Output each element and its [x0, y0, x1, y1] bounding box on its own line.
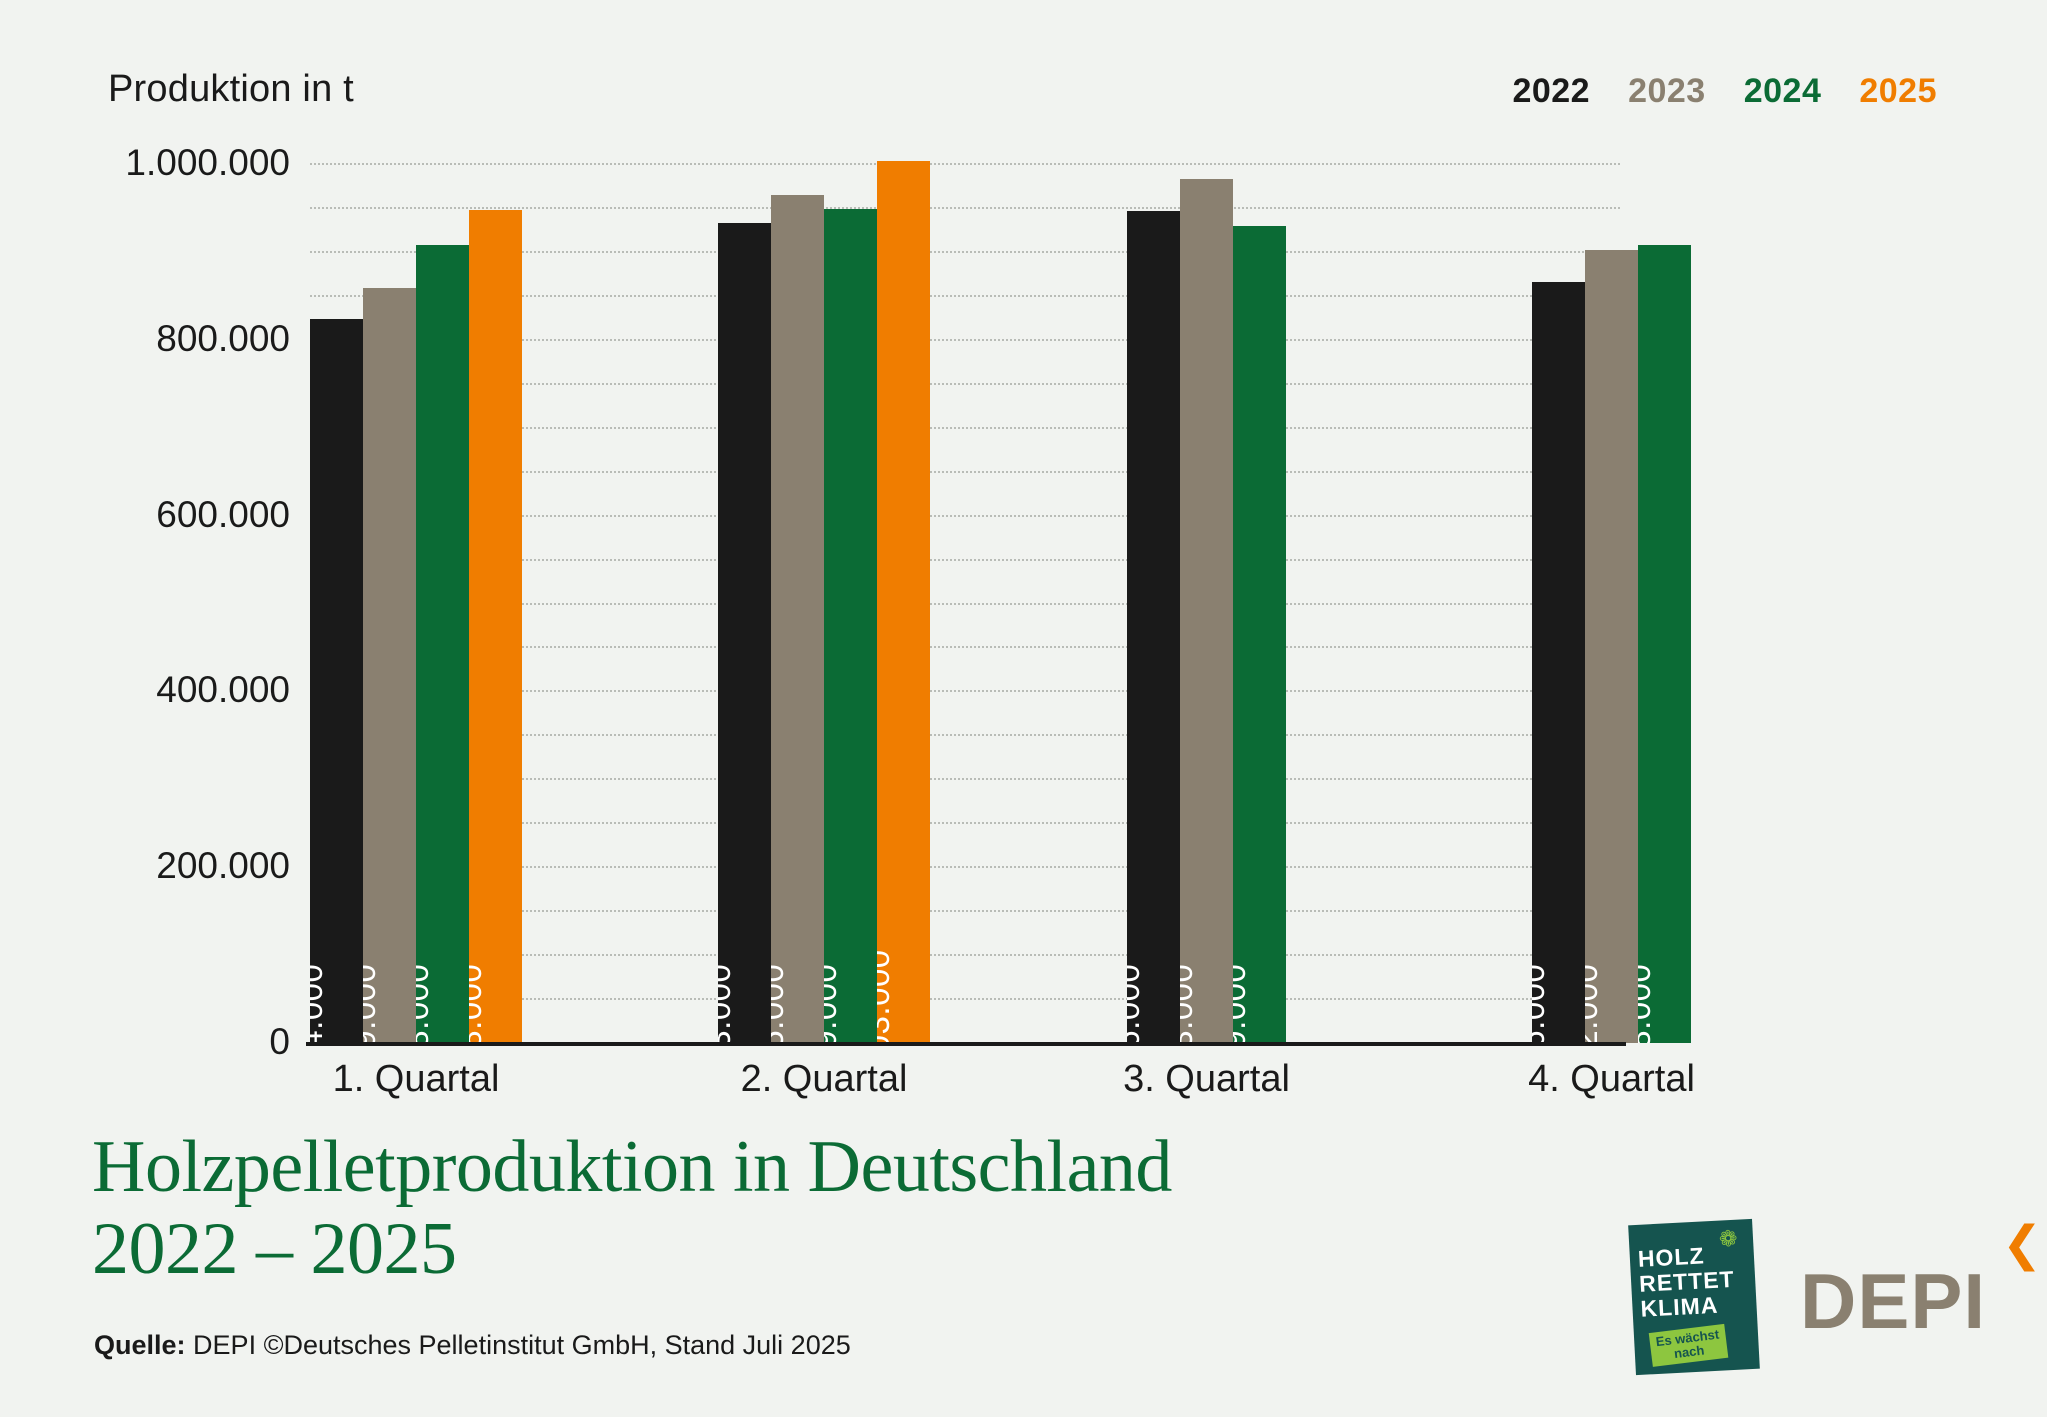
bar-value-label: 859.000: [363, 964, 390, 1043]
bar-value-label: 949.000: [824, 964, 851, 1043]
legend-item-2023: 2023: [1628, 72, 1706, 111]
y-tick-label: 400.000: [156, 669, 290, 711]
y-tick-label: 800.000: [156, 318, 290, 360]
source-label: Quelle:: [94, 1330, 186, 1360]
bar-group: 824.000859.000908.000948.000: [310, 164, 522, 1043]
bar-2022-4[interactable]: 866.000: [1532, 282, 1585, 1043]
bar-group: 946.000983.000929.000: [1127, 164, 1286, 1043]
bar-value-label: 824.000: [310, 964, 337, 1043]
bar-2022-2[interactable]: 933.000: [718, 223, 771, 1043]
depi-logo: DEPI: [1800, 1262, 1986, 1340]
x-tick-label: 1. Quartal: [333, 1058, 500, 1101]
bar-2025-1[interactable]: 948.000: [469, 210, 522, 1043]
x-axis-line: [306, 1042, 1626, 1046]
bar-2024-4[interactable]: 908.000: [1638, 245, 1691, 1043]
y-axis-title: Produktion in t: [108, 68, 354, 111]
hrk-wordmark: HOLZ RETTET KLIMA: [1637, 1241, 1749, 1322]
y-tick-label: 200.000: [156, 845, 290, 887]
source-text: DEPI ©Deutsches Pelletinstitut GmbH, Sta…: [193, 1330, 851, 1360]
legend-item-2022: 2022: [1512, 72, 1590, 111]
bar-2022-1[interactable]: 824.000: [310, 319, 363, 1043]
plot-area: 824.000859.000908.000948.000933.000965.0…: [310, 163, 1620, 1043]
bar-2024-3[interactable]: 929.000: [1233, 226, 1286, 1043]
source-line: Quelle: DEPI ©Deutsches Pelletinstitut G…: [94, 1330, 851, 1361]
bar-value-label: 946.000: [1127, 964, 1154, 1043]
bar-2024-2[interactable]: 949.000: [824, 209, 877, 1043]
bar-value-label: 902.000: [1585, 964, 1612, 1043]
bar-value-label: 983.000: [1180, 964, 1207, 1043]
bar-2023-3[interactable]: 983.000: [1180, 179, 1233, 1043]
bar-2025-2[interactable]: 1.003.000: [877, 161, 930, 1043]
bar-group: 866.000902.000908.000: [1532, 164, 1691, 1043]
bar-value-label: 929.000: [1233, 964, 1260, 1043]
bar-2023-4[interactable]: 902.000: [1585, 250, 1638, 1043]
y-tick-label: 600.000: [156, 494, 290, 536]
bar-2023-1[interactable]: 859.000: [363, 288, 416, 1043]
bar-value-label: 908.000: [416, 964, 443, 1043]
y-tick-label: 0: [269, 1021, 290, 1063]
legend: 2022202320242025: [1512, 72, 1937, 111]
bar-value-label: 965.000: [771, 964, 798, 1043]
hrk-line-3: KLIMA: [1640, 1291, 1749, 1322]
x-tick-label: 2. Quartal: [741, 1058, 908, 1101]
bar-value-label: 948.000: [469, 964, 496, 1043]
bar-value-label: 866.000: [1532, 964, 1559, 1043]
bar-group: 933.000965.000949.0001.003.000: [718, 164, 930, 1043]
bar-value-label: 908.000: [1638, 964, 1665, 1043]
holz-rettet-klima-logo: ❁ HOLZ RETTET KLIMA Es wächst nach: [1628, 1219, 1760, 1375]
bar-value-label: 933.000: [718, 964, 745, 1043]
bar-value-label: 1.003.000: [877, 949, 904, 1043]
bar-2024-1[interactable]: 908.000: [416, 245, 469, 1043]
x-tick-label: 3. Quartal: [1123, 1058, 1290, 1101]
chart-title-line1: Holzpelletproduktion in Deutschland: [92, 1126, 1172, 1208]
x-tick-label: 4. Quartal: [1528, 1058, 1695, 1101]
legend-item-2024: 2024: [1744, 72, 1822, 111]
flame-icon: ❮: [2002, 1222, 2036, 1268]
chart-title: Holzpelletproduktion in Deutschland 2022…: [92, 1126, 1172, 1290]
y-tick-label: 1.000.000: [125, 142, 290, 184]
legend-item-2025: 2025: [1859, 72, 1937, 111]
hrk-tagline: Es wächst nach: [1649, 1324, 1728, 1367]
bar-2022-3[interactable]: 946.000: [1127, 211, 1180, 1043]
bar-2023-2[interactable]: 965.000: [771, 195, 824, 1043]
chart-title-line2: 2022 – 2025: [92, 1208, 1172, 1290]
